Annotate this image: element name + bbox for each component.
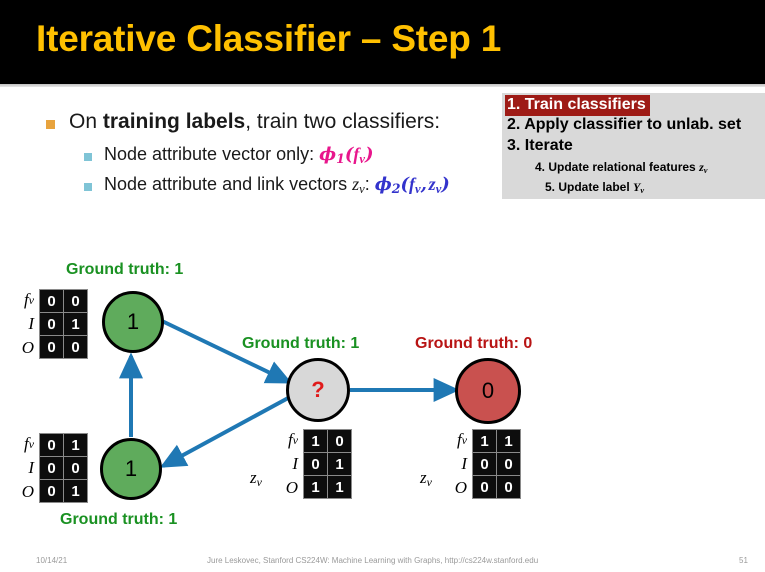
zv-bracket-label-right: zv xyxy=(420,468,432,490)
matrix-cell: 1 xyxy=(64,480,87,502)
graph-node-middle-unknown[interactable]: ? xyxy=(286,358,350,422)
row-label-I: I xyxy=(278,452,298,476)
bullet-sub-2: Node attribute and link vectors zv: ϕ2(f… xyxy=(84,174,450,197)
matrix-cell: 1 xyxy=(328,453,351,475)
matrix-cell: 1 xyxy=(304,430,327,452)
row-label-fv: fv xyxy=(14,288,34,312)
matrix-cell: 0 xyxy=(64,336,87,358)
matrix-cell: 0 xyxy=(473,453,496,475)
graph-node-bottom-left[interactable]: 1 xyxy=(100,438,162,500)
zv-inline: zv xyxy=(352,174,365,194)
bullet-sub-2-label: Node attribute and link vectors xyxy=(104,174,352,194)
phi1-formula: ϕ1(fv) xyxy=(319,144,373,165)
matrix-cell: 0 xyxy=(40,313,63,335)
matrix-cell: 0 xyxy=(328,430,351,452)
ground-truth-top-left: Ground truth: 1 xyxy=(66,261,183,279)
matrix-cell: 1 xyxy=(304,476,327,498)
matrix-row-I: 0 1 xyxy=(40,313,87,335)
ground-truth-middle: Ground truth: 1 xyxy=(242,335,359,353)
row-label-fv: fv xyxy=(14,432,34,456)
matrix-row-labels: fv I O xyxy=(447,428,467,500)
bullet-main-suffix: , train two classifiers: xyxy=(245,110,440,133)
matrix-row-fv: 0 1 xyxy=(40,434,87,456)
bullet-square-icon xyxy=(84,153,92,161)
bullet-main-bold: training labels xyxy=(103,110,245,133)
matrix-row-O: 0 1 xyxy=(40,480,87,502)
bullet-main-prefix: On xyxy=(69,110,103,133)
feature-matrix-right: fv I O 1 1 0 0 0 0 xyxy=(447,428,521,500)
step-item-2[interactable]: 2. Apply classifier to unlab. set xyxy=(507,116,741,134)
matrix-row-fv: 0 0 xyxy=(40,290,87,312)
title-divider xyxy=(0,84,765,87)
matrix-row-I: 0 1 xyxy=(304,453,351,475)
bullet-sub-1: Node attribute vector only: ϕ1(fv) xyxy=(84,144,374,167)
footer-date: 10/14/21 xyxy=(36,556,67,565)
bullet-sub-1-label: Node attribute vector only: xyxy=(104,144,319,164)
matrix-cell: 0 xyxy=(40,480,63,502)
feature-matrix-top-left: fv I O 0 0 0 1 0 0 xyxy=(14,288,88,360)
footer-citation: Jure Leskovec, Stanford CS224W: Machine … xyxy=(207,556,538,565)
matrix-cell: 1 xyxy=(473,430,496,452)
matrix-cell: 1 xyxy=(64,434,87,456)
matrix-cell: 0 xyxy=(473,476,496,498)
row-label-O: O xyxy=(278,476,298,500)
row-label-I: I xyxy=(447,452,467,476)
slide-canvas: Iterative Classifier – Step 1 On trainin… xyxy=(0,0,765,572)
matrix-cell: 0 xyxy=(497,476,520,498)
matrix-cell: 0 xyxy=(40,290,63,312)
graph-node-right[interactable]: 0 xyxy=(455,358,521,424)
matrix-row-fv: 1 1 xyxy=(473,430,520,452)
steps-panel: 1. Train classifiers 2. Apply classifier… xyxy=(502,93,765,199)
bullet-main: On training labels, train two classifier… xyxy=(46,110,440,134)
feature-matrix-middle: fv I O 1 0 0 1 1 1 xyxy=(278,428,352,500)
matrix-row-O: 0 0 xyxy=(40,336,87,358)
feature-matrix-bottom-left: fv I O 0 1 0 0 0 1 xyxy=(14,432,88,504)
phi2-formula: ϕ2(fv, zv) xyxy=(375,174,450,195)
matrix-row-labels: fv I O xyxy=(14,288,34,360)
zv-bracket-label-middle: zv xyxy=(250,468,262,490)
bullet-main-text: On training labels, train two classifier… xyxy=(69,110,440,134)
matrix-cell: 0 xyxy=(40,336,63,358)
matrix-cells: 0 1 0 0 0 1 xyxy=(39,433,88,503)
step-item-1[interactable]: 1. Train classifiers xyxy=(505,95,650,116)
step-item-3[interactable]: 3. Iterate xyxy=(507,137,573,155)
bullet-square-icon xyxy=(46,120,55,129)
matrix-cell: 0 xyxy=(64,290,87,312)
matrix-cells: 1 1 0 0 0 0 xyxy=(472,429,521,499)
matrix-cell: 1 xyxy=(328,476,351,498)
matrix-row-O: 1 1 xyxy=(304,476,351,498)
ground-truth-bottom-left: Ground truth: 1 xyxy=(60,511,177,529)
ground-truth-right: Ground truth: 0 xyxy=(415,335,532,353)
matrix-cells: 0 0 0 1 0 0 xyxy=(39,289,88,359)
edge-mid-to-bl xyxy=(163,397,290,466)
row-label-O: O xyxy=(447,476,467,500)
bullet-square-icon xyxy=(84,183,92,191)
step-item-4[interactable]: 4. Update relational features zv xyxy=(535,160,707,175)
row-label-I: I xyxy=(14,456,34,480)
matrix-cell: 1 xyxy=(64,313,87,335)
matrix-row-fv: 1 0 xyxy=(304,430,351,452)
matrix-cell: 0 xyxy=(304,453,327,475)
page-title: Iterative Classifier – Step 1 xyxy=(36,18,501,60)
matrix-row-O: 0 0 xyxy=(473,476,520,498)
step-item-5[interactable]: 5. Update label Yv xyxy=(545,180,644,195)
graph-node-top-left[interactable]: 1 xyxy=(102,291,164,353)
row-label-fv: fv xyxy=(447,428,467,452)
footer-page-number: 51 xyxy=(739,556,748,565)
matrix-row-labels: fv I O xyxy=(278,428,298,500)
row-label-O: O xyxy=(14,480,34,504)
matrix-cells: 1 0 0 1 1 1 xyxy=(303,429,352,499)
row-label-I: I xyxy=(14,312,34,336)
matrix-row-I: 0 0 xyxy=(40,457,87,479)
matrix-cell: 0 xyxy=(64,457,87,479)
matrix-cell: 0 xyxy=(497,453,520,475)
matrix-cell: 0 xyxy=(40,434,63,456)
bullet-sub-1-text: Node attribute vector only: ϕ1(fv) xyxy=(104,144,374,167)
matrix-row-labels: fv I O xyxy=(14,432,34,504)
matrix-cell: 1 xyxy=(497,430,520,452)
row-label-fv: fv xyxy=(278,428,298,452)
title-bar: Iterative Classifier – Step 1 xyxy=(0,0,765,84)
row-label-O: O xyxy=(14,336,34,360)
matrix-cell: 0 xyxy=(40,457,63,479)
bullet-sub-2-text: Node attribute and link vectors zv: ϕ2(f… xyxy=(104,174,450,197)
matrix-row-I: 0 0 xyxy=(473,453,520,475)
